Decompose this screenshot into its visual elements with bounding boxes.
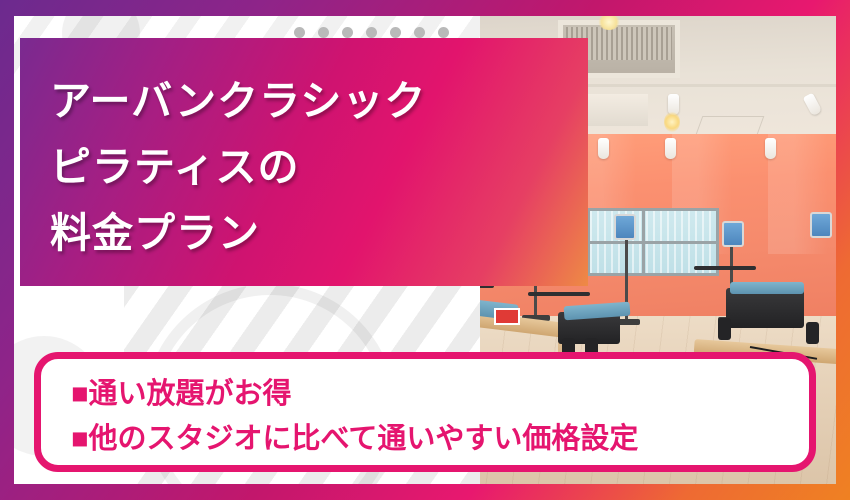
photo-tablet-screen (722, 221, 744, 247)
dot-icon (390, 27, 401, 38)
dot-icon (366, 27, 377, 38)
photo-spotlight-glow (664, 112, 680, 132)
highlights-box: ■通い放題がお得 ■他のスタジオに比べて通いやすい価格設定 (34, 352, 816, 472)
title-line-1: アーバンクラシック (50, 68, 588, 134)
title-line-2: ピラティスの (50, 134, 588, 200)
photo-tablet-screen (614, 214, 636, 240)
dot-icon (294, 27, 305, 38)
title-line-3: 料金プラン (50, 200, 588, 266)
title-panel: アーバンクラシック ピラティスの 料金プラン (20, 38, 588, 286)
dot-icon (414, 27, 425, 38)
highlight-item-2: ■他のスタジオに比べて通いやすい価格設定 (71, 417, 809, 462)
photo-spotlight (665, 138, 676, 159)
highlight-item-1: ■通い放題がお得 (71, 372, 809, 417)
pricing-banner: アーバンクラシック ピラティスの 料金プラン ■通い放題がお得 ■他のスタジオに… (0, 0, 850, 500)
dot-row-decoration (294, 27, 449, 38)
dot-icon (438, 27, 449, 38)
photo-tablet-screen (810, 212, 832, 238)
photo-spotlight (598, 138, 609, 159)
photo-spotlight (765, 138, 776, 159)
photo-window-mullion (590, 241, 716, 244)
dot-icon (318, 27, 329, 38)
dot-icon (342, 27, 353, 38)
